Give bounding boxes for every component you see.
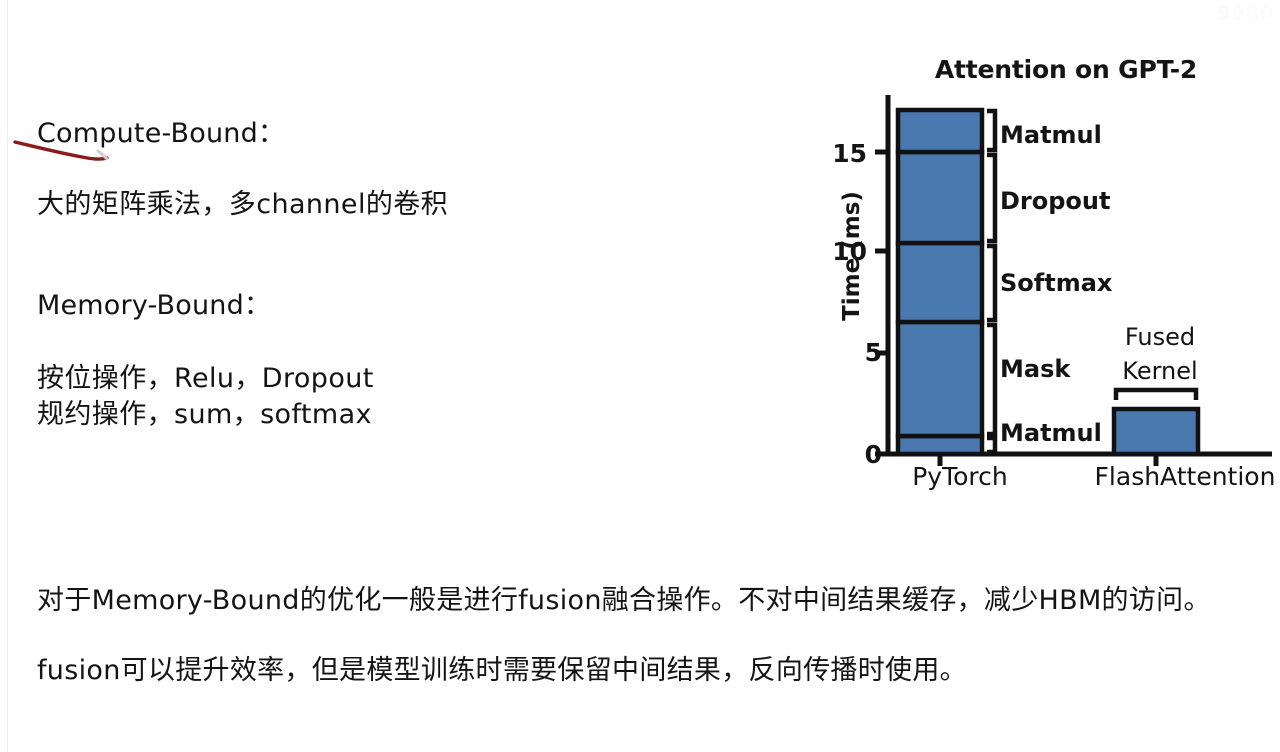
bracket-matmul-top <box>987 111 995 150</box>
bar-segment-mask <box>898 322 982 436</box>
memory-bound-examples-line-2: 规约操作，sum，softmax <box>37 392 372 431</box>
bracket-softmax <box>987 246 995 320</box>
chart-plot-area <box>820 45 1280 505</box>
compute-bound-examples: 大的矩阵乘法，多channel的卷积 <box>37 182 448 221</box>
bar-segment-matmul-bottom <box>898 436 982 454</box>
bottom-note-2: fusion可以提升效率，但是模型训练时需要保留中间结果，反向传播时使用。 <box>37 648 967 687</box>
y-axis <box>875 95 888 454</box>
bar-pytorch-stack <box>898 110 982 454</box>
bracket-mask <box>987 325 995 434</box>
red-underline-annotation-icon <box>12 133 122 165</box>
bottom-note-1: 对于Memory-Bound的优化一般是进行fusion融合操作。不对中间结果缓… <box>37 578 1211 617</box>
bracket-fused-kernel <box>1116 390 1196 400</box>
watermark-text: 9980 <box>1217 2 1274 24</box>
page-edge-rule <box>7 0 8 752</box>
slide-canvas: 9980 Compute-Bound： 大的矩阵乘法，多channel的卷积 M… <box>0 0 1280 752</box>
segment-brackets <box>987 111 995 452</box>
bracket-dropout <box>987 155 995 241</box>
bar-segment-matmul-top <box>898 110 982 152</box>
bar-segment-softmax <box>898 243 982 322</box>
memory-bound-heading: Memory-Bound： <box>37 283 271 322</box>
bar-segment-dropout <box>898 152 982 243</box>
memory-bound-examples-line-1: 按位操作，Relu，Dropout <box>37 356 374 395</box>
bracket-matmul-bottom <box>987 438 995 452</box>
bar-flashattention <box>1114 409 1198 454</box>
attention-gpt2-chart: Attention on GPT-2 Time (ms) 0 5 10 15 P… <box>820 45 1280 505</box>
